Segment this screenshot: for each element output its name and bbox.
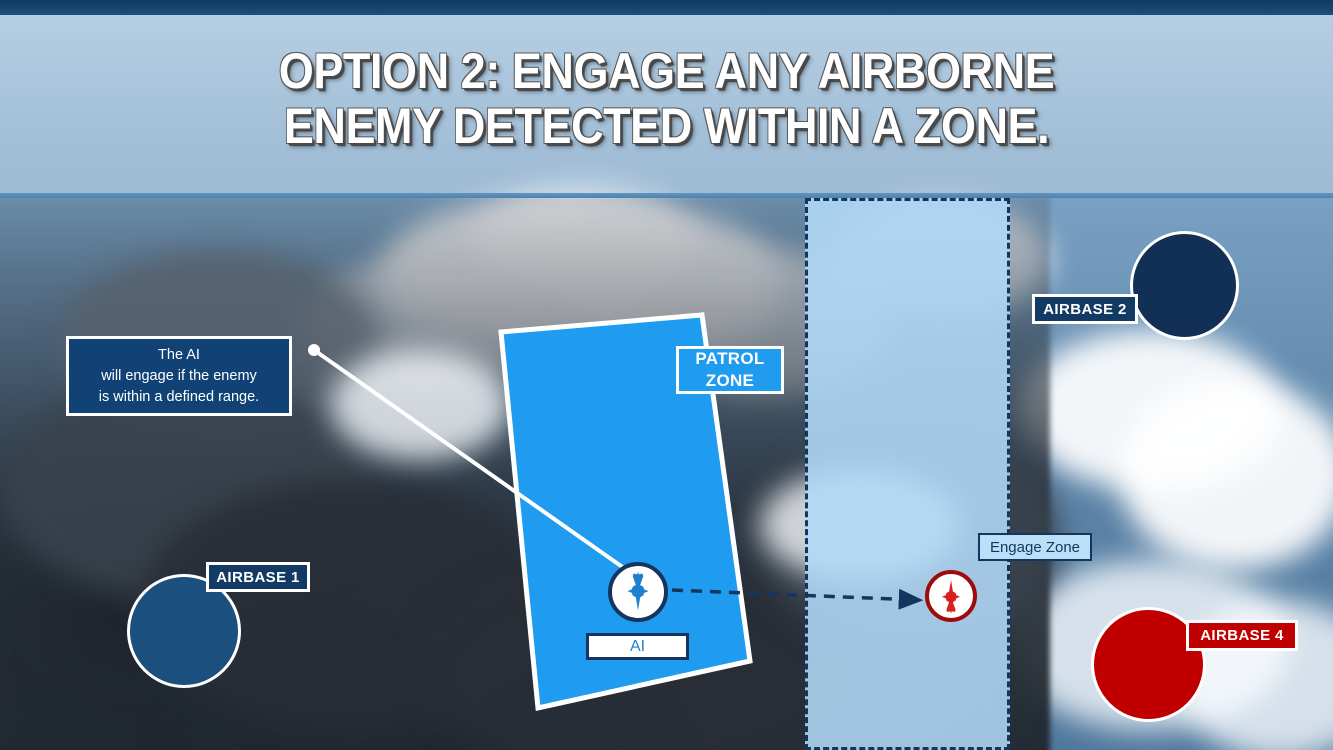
fighter-jet-icon: [932, 577, 970, 615]
fighter-jet-icon: [616, 570, 660, 614]
enemy-jet-marker[interactable]: [925, 570, 977, 622]
top-accent-bar: [0, 0, 1333, 15]
title-underline: [0, 193, 1333, 198]
airbase-2-label[interactable]: AIRBASE 2: [1032, 294, 1138, 324]
patrol-zone-label[interactable]: PATROL ZONE: [676, 346, 784, 394]
airbase-4-label[interactable]: AIRBASE 4: [1186, 620, 1298, 651]
engage-zone-rect[interactable]: [805, 198, 1010, 750]
ai-behavior-callout: The AI will engage if the enemy is withi…: [66, 336, 292, 416]
airbase-2-circle[interactable]: [1130, 231, 1239, 340]
page-title: OPTION 2: ENGAGE ANY AIRBORNE ENEMY DETE…: [67, 44, 1267, 154]
ai-unit-label[interactable]: AI: [586, 633, 689, 660]
engage-zone-label[interactable]: Engage Zone: [978, 533, 1092, 561]
airbase-1-label[interactable]: AIRBASE 1: [206, 562, 310, 592]
slide-canvas: The AI will engage if the enemy is withi…: [0, 0, 1333, 750]
ai-jet-marker[interactable]: [608, 562, 668, 622]
